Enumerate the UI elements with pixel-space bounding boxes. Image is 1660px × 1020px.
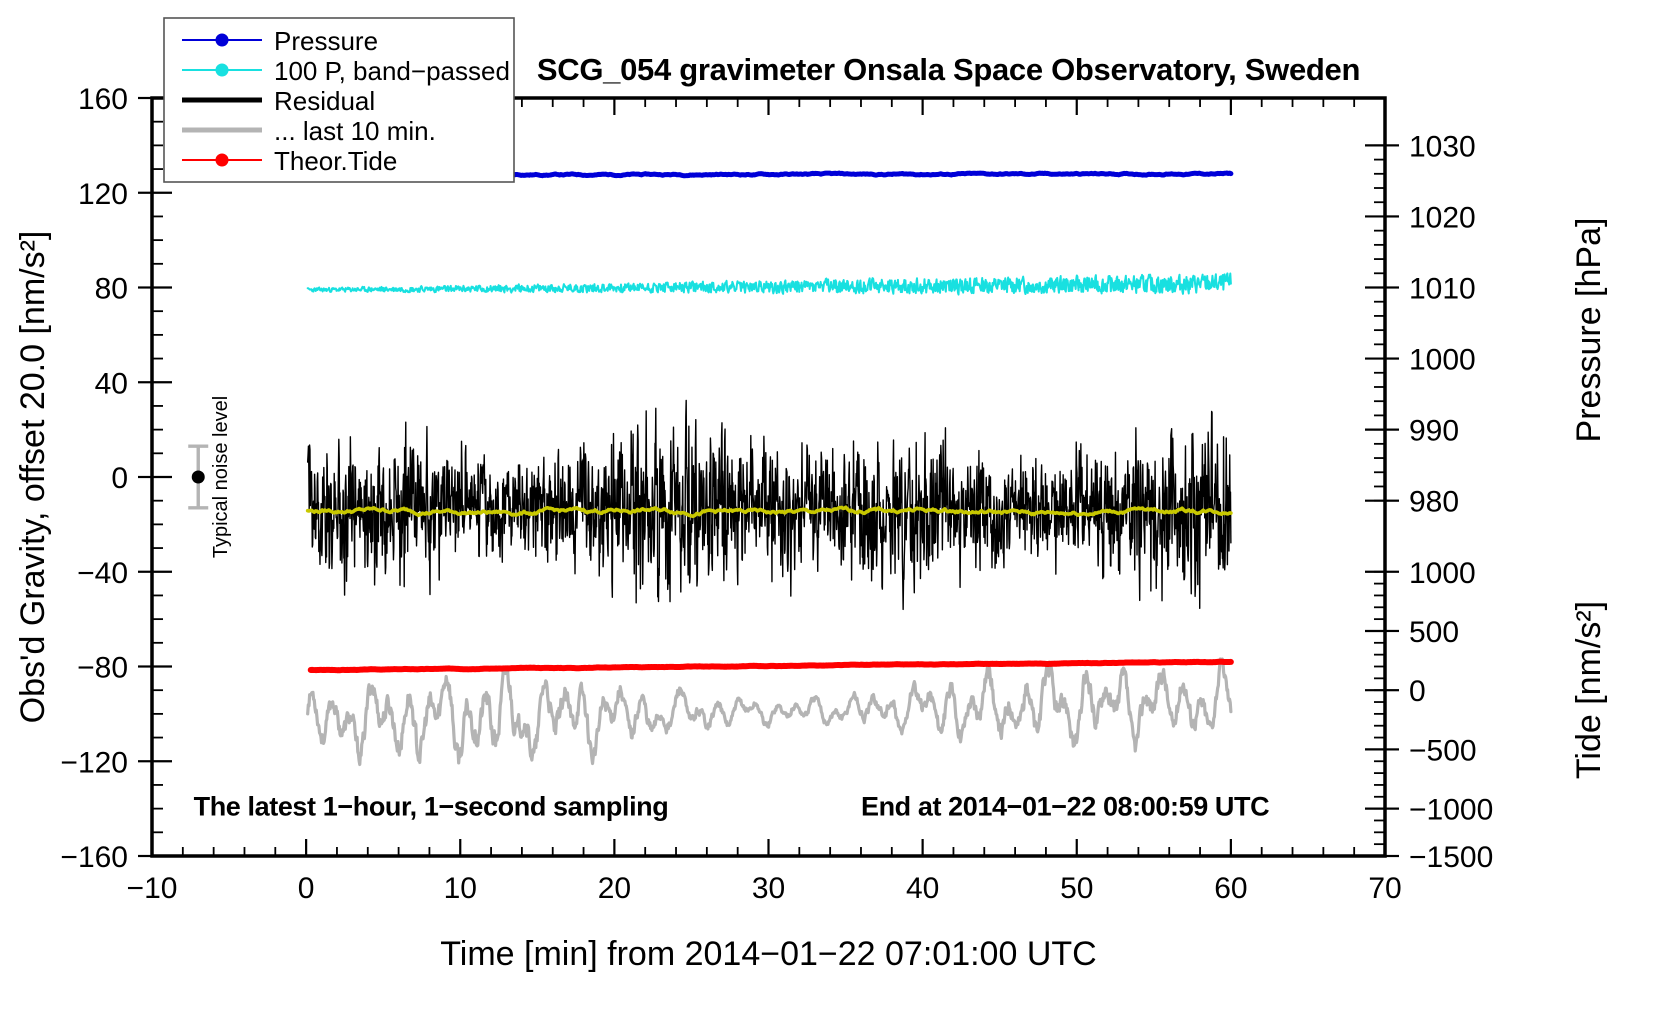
gravimeter-chart: −10010203040506070−160−120−80−4004080120… xyxy=(0,0,1660,1020)
tide-tick-label: 500 xyxy=(1409,616,1459,649)
end-time-note: End at 2014−01−22 08:00:59 UTC xyxy=(861,792,1269,822)
legend-label: ... last 10 min. xyxy=(274,116,436,146)
y-tick-label: 40 xyxy=(95,367,128,400)
y-tick-label: 160 xyxy=(78,83,128,116)
tide-tick-label: −500 xyxy=(1409,734,1477,767)
y-tick-label: −160 xyxy=(60,841,128,874)
right-axis-title-tide: Tide [nm/s²] xyxy=(1570,601,1608,779)
tide-tick-label: −1000 xyxy=(1409,794,1493,827)
x-tick-label: 0 xyxy=(298,872,315,905)
pressure-tick-label: 980 xyxy=(1409,486,1459,519)
pressure-tick-label: 1030 xyxy=(1409,130,1476,163)
legend[interactable]: Pressure100 P, band−passedResidual... la… xyxy=(164,18,514,182)
legend-swatch-dot xyxy=(216,34,229,47)
legend-swatch-dot xyxy=(216,64,229,77)
right-axis-title-pressure: Pressure [hPa] xyxy=(1570,218,1608,443)
x-tick-label: 40 xyxy=(906,872,939,905)
x-tick-label: −10 xyxy=(127,872,178,905)
pressure-tick-label: 1010 xyxy=(1409,273,1476,306)
noise-center-dot xyxy=(192,471,205,484)
pressure-tick-label: 1020 xyxy=(1409,201,1476,234)
y-axis-title: Obs'd Gravity, offset 20.0 [nm/s²] xyxy=(14,231,52,724)
y-tick-label: −40 xyxy=(77,557,128,590)
plot-title: SCG_054 gravimeter Onsala Space Observat… xyxy=(537,52,1360,87)
y-tick-label: 120 xyxy=(78,178,128,211)
legend-swatch-dot xyxy=(216,154,229,167)
x-tick-label: 10 xyxy=(444,872,477,905)
pressure-tick-label: 1000 xyxy=(1409,344,1476,377)
legend-label: Residual xyxy=(274,86,375,116)
legend-label: Theor.Tide xyxy=(274,146,397,176)
x-tick-label: 50 xyxy=(1060,872,1093,905)
x-tick-label: 70 xyxy=(1368,872,1401,905)
x-tick-label: 60 xyxy=(1214,872,1247,905)
legend-label: Pressure xyxy=(274,26,378,56)
legend-label: 100 P, band−passed xyxy=(274,56,510,86)
x-axis-title: Time [min] from 2014−01−22 07:01:00 UTC xyxy=(440,935,1096,973)
y-tick-label: 0 xyxy=(111,462,128,495)
noise-level-label: Typical noise level xyxy=(210,396,232,558)
tide-tick-label: 0 xyxy=(1409,675,1426,708)
y-tick-label: 80 xyxy=(95,273,128,306)
sampling-note: The latest 1−hour, 1−second sampling xyxy=(194,792,669,822)
chart-page: −10010203040506070−160−120−80−4004080120… xyxy=(0,0,1660,1020)
x-tick-label: 30 xyxy=(752,872,785,905)
y-tick-label: −80 xyxy=(77,652,128,685)
tide-tick-label: −1500 xyxy=(1409,841,1493,874)
y-tick-label: −120 xyxy=(60,746,128,779)
tide-tick-label: 1000 xyxy=(1409,557,1476,590)
x-tick-label: 20 xyxy=(598,872,631,905)
pressure-tick-label: 990 xyxy=(1409,415,1459,448)
